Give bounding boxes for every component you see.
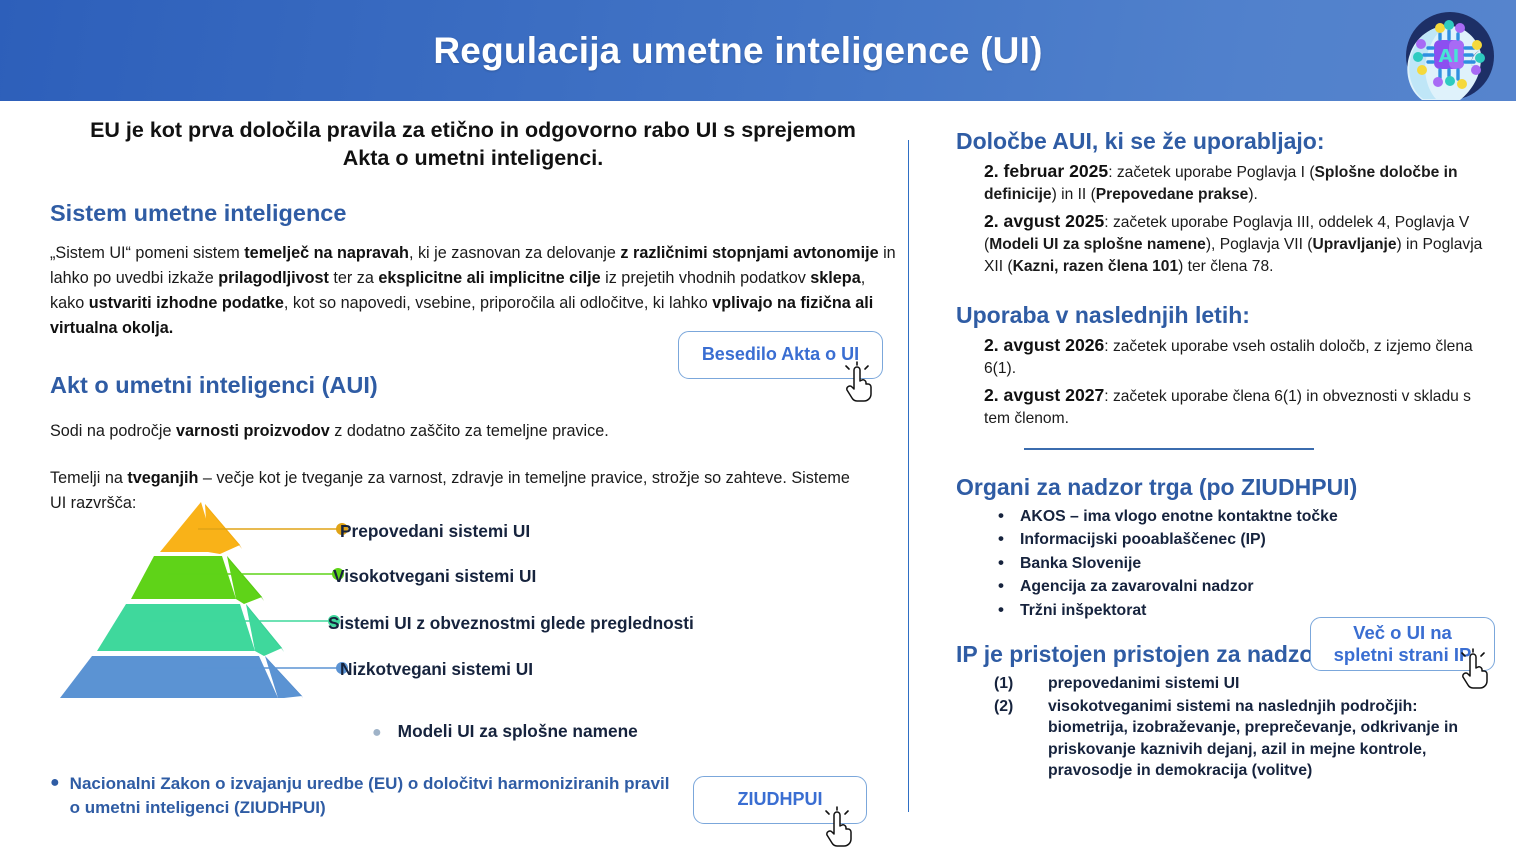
section-heading-future-use: Uporaba v naslednjih letih: bbox=[956, 302, 1496, 330]
provision-date: 2. avgust 2027 bbox=[984, 385, 1104, 405]
numbered-item: (1)prepovedanimi sistemi UI bbox=[956, 673, 1496, 694]
left-column: EU je kot prva določila pravila za etičn… bbox=[50, 110, 902, 516]
pyramid-label-4: Nizkotvegani sistemi UI bbox=[340, 659, 533, 680]
bullet-dot-icon: ● bbox=[372, 724, 382, 741]
provision-date: 2. februar 2025 bbox=[984, 161, 1108, 181]
svg-text:AI: AI bbox=[1439, 46, 1460, 67]
provision-date: 2. avgust 2026 bbox=[984, 335, 1104, 355]
general-purpose-models-item: ●Modeli UI za splošne namene bbox=[372, 721, 638, 742]
section-heading-market-authorities: Organi za nadzor trga (po ZIUDHPUI) bbox=[956, 474, 1496, 502]
bullet-dot-icon-2: ● bbox=[50, 772, 60, 820]
pyramid-level-4 bbox=[60, 656, 303, 698]
besedilo-akta-label: Besedilo Akta o UI bbox=[702, 344, 859, 366]
general-purpose-models-label: Modeli UI za splošne namene bbox=[398, 721, 638, 741]
page-title: Regulacija umetne inteligence (UI) bbox=[0, 0, 1516, 101]
list-item: AKOS – ima vlogo enotne kontaktne točke bbox=[956, 506, 1496, 527]
ziudhpui-button[interactable]: ZIUDHPUI bbox=[693, 776, 867, 824]
item-text: prepovedanimi sistemi UI bbox=[1048, 675, 1239, 692]
pyramid-label-2: Visokotvegani sistemi UI bbox=[333, 566, 536, 587]
lead-statement: EU je kot prva določila pravila za etičn… bbox=[50, 110, 902, 173]
ip-jurisdiction-list: (1)prepovedanimi sistemi UI (2)visokotve… bbox=[956, 673, 1496, 781]
section-heading-system: Sistem umetne inteligence bbox=[50, 199, 902, 227]
list-item: Agencija za zavarovalni nadzor bbox=[956, 576, 1496, 597]
item-number: (1) bbox=[994, 673, 1013, 694]
vec-o-ui-button[interactable]: Več o UI na spletni strani IP bbox=[1310, 617, 1495, 671]
system-definition-paragraph: „Sistem UI“ pomeni sistem temelječ na na… bbox=[50, 241, 896, 341]
pyramid-level-2 bbox=[131, 556, 264, 604]
besedilo-akta-button[interactable]: Besedilo Akta o UI bbox=[678, 331, 883, 379]
provision-item: 2. avgust 2025: začetek uporabe Poglavja… bbox=[984, 209, 1496, 278]
pyramid-level-1 bbox=[160, 502, 242, 554]
provision-date: 2. avgust 2025 bbox=[984, 211, 1104, 231]
section-heading-current-provisions: Določbe AUI, ki se že uporabljajo: bbox=[956, 128, 1496, 156]
column-divider bbox=[908, 140, 909, 812]
pyramid-label-1: Prepovedani sistemi UI bbox=[340, 521, 530, 542]
item-number: (2) bbox=[994, 696, 1013, 717]
section-divider bbox=[1024, 448, 1314, 450]
pyramid-label-3: Sistemi UI z obveznostmi glede pregledno… bbox=[328, 613, 694, 634]
provision-item: 2. februar 2025: začetek uporabe Poglavj… bbox=[984, 159, 1496, 206]
provision-item: 2. avgust 2026: začetek uporabe vseh ost… bbox=[984, 333, 1496, 380]
akt-paragraph-1: Sodi na področje varnosti proizvodov z d… bbox=[50, 419, 902, 444]
pyramid-level-3 bbox=[97, 604, 284, 656]
ai-brain-icon: AI bbox=[1390, 4, 1498, 101]
list-item: Banka Slovenije bbox=[956, 553, 1496, 574]
vec-o-ui-label-line2: spletni strani IP bbox=[1334, 644, 1472, 666]
vec-o-ui-label-line1: Več o UI na bbox=[1334, 622, 1472, 644]
ziudhpui-label: ZIUDHPUI bbox=[738, 789, 823, 811]
page-header: Regulacija umetne inteligence (UI) AI bbox=[0, 0, 1516, 101]
national-law-bullet: ● Nacionalni Zakon o izvajanju uredbe (E… bbox=[50, 772, 670, 820]
list-item: Informacijski pooablaščenec (IP) bbox=[956, 529, 1496, 550]
national-law-label: Nacionalni Zakon o izvajanju uredbe (EU)… bbox=[70, 772, 670, 820]
item-text: visokotveganimi sistemi na naslednjih po… bbox=[1048, 698, 1458, 779]
right-column: Določbe AUI, ki se že uporabljajo: 2. fe… bbox=[956, 128, 1496, 783]
market-authorities-list: AKOS – ima vlogo enotne kontaktne točke … bbox=[956, 506, 1496, 621]
provision-item: 2. avgust 2027: začetek uporabe člena 6(… bbox=[984, 383, 1496, 430]
numbered-item: (2)visokotveganimi sistemi na naslednjih… bbox=[956, 696, 1496, 782]
